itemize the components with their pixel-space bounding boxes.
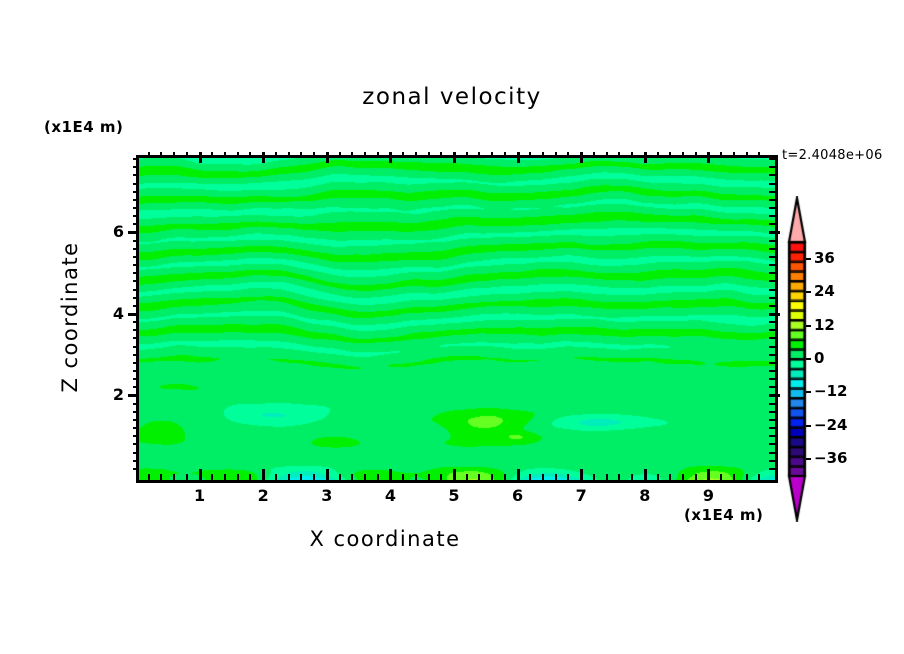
axis-tick bbox=[769, 297, 775, 299]
colorbar-tick-label: 0 bbox=[814, 349, 824, 367]
time-annotation: t=2.4048e+06 bbox=[782, 148, 883, 163]
axis-tick bbox=[133, 166, 139, 168]
axis-tick bbox=[377, 474, 379, 480]
axis-tick bbox=[128, 231, 139, 234]
axis-tick bbox=[133, 199, 139, 201]
axis-tick bbox=[491, 474, 493, 480]
colorbar-tick bbox=[806, 258, 811, 260]
axis-tick bbox=[133, 305, 139, 307]
colorbar-tick bbox=[806, 325, 811, 327]
axis-tick bbox=[720, 152, 722, 158]
axis-tick bbox=[199, 469, 202, 480]
axis-tick bbox=[769, 378, 775, 380]
x-tick-label: 3 bbox=[307, 486, 347, 505]
axis-tick bbox=[769, 215, 775, 217]
x-tick-label: 6 bbox=[498, 486, 538, 505]
x-tick-label: 9 bbox=[688, 486, 728, 505]
axis-tick bbox=[133, 362, 139, 364]
axis-tick bbox=[769, 305, 775, 307]
axis-tick bbox=[769, 199, 775, 201]
axis-tick bbox=[707, 152, 710, 163]
axis-tick bbox=[351, 152, 353, 158]
axis-tick bbox=[133, 378, 139, 380]
axis-tick bbox=[133, 419, 139, 421]
axis-tick bbox=[746, 152, 748, 158]
axis-tick bbox=[542, 474, 544, 480]
axis-tick bbox=[517, 152, 520, 163]
axis-tick bbox=[631, 474, 633, 480]
x-tick-label: 8 bbox=[625, 486, 665, 505]
axis-tick bbox=[769, 468, 775, 470]
axis-tick bbox=[133, 386, 139, 388]
axis-tick bbox=[133, 354, 139, 356]
axis-tick bbox=[769, 386, 775, 388]
axis-tick bbox=[769, 191, 775, 193]
axis-tick bbox=[758, 152, 760, 158]
axis-tick bbox=[275, 152, 277, 158]
axis-tick bbox=[402, 474, 404, 480]
contour-field bbox=[139, 158, 775, 480]
axis-tick bbox=[133, 443, 139, 445]
axis-tick bbox=[133, 215, 139, 217]
axis-tick bbox=[733, 474, 735, 480]
axis-tick bbox=[453, 152, 456, 163]
axis-tick bbox=[288, 474, 290, 480]
axis-tick bbox=[377, 152, 379, 158]
axis-tick bbox=[237, 152, 239, 158]
axis-tick bbox=[769, 329, 775, 331]
axis-tick bbox=[769, 370, 775, 372]
axis-tick bbox=[173, 152, 175, 158]
axis-tick bbox=[769, 346, 775, 348]
axis-tick bbox=[133, 370, 139, 372]
axis-tick bbox=[133, 158, 139, 160]
axis-tick bbox=[529, 152, 531, 158]
axis-tick bbox=[133, 207, 139, 209]
x-tick-label: 4 bbox=[370, 486, 410, 505]
axis-tick bbox=[148, 152, 150, 158]
axis-tick bbox=[695, 152, 697, 158]
axis-tick bbox=[133, 297, 139, 299]
x-tick-label: 2 bbox=[243, 486, 283, 505]
axis-tick bbox=[769, 256, 775, 258]
axis-tick bbox=[478, 474, 480, 480]
axis-tick bbox=[389, 152, 392, 163]
axis-tick bbox=[211, 474, 213, 480]
axis-tick bbox=[769, 337, 775, 339]
axis-tick bbox=[262, 469, 265, 480]
axis-tick bbox=[326, 152, 329, 163]
y-tick-label: 2 bbox=[90, 385, 124, 404]
axis-tick bbox=[769, 452, 775, 454]
axis-tick bbox=[128, 313, 139, 316]
axis-tick bbox=[160, 474, 162, 480]
axis-tick bbox=[351, 474, 353, 480]
axis-tick bbox=[504, 152, 506, 158]
y-axis-unit-label: (x1E4 m) bbox=[44, 118, 123, 136]
axis-tick bbox=[402, 152, 404, 158]
axis-tick bbox=[669, 152, 671, 158]
axis-tick bbox=[606, 474, 608, 480]
axis-tick bbox=[133, 223, 139, 225]
axis-tick bbox=[695, 474, 697, 480]
axis-tick bbox=[173, 474, 175, 480]
axis-tick bbox=[160, 152, 162, 158]
x-axis-title: X coordinate bbox=[0, 527, 770, 551]
x-tick-label: 7 bbox=[561, 486, 601, 505]
axis-tick bbox=[593, 152, 595, 158]
axis-tick bbox=[133, 191, 139, 193]
colorbar-tick-label: 12 bbox=[814, 316, 835, 334]
axis-tick bbox=[644, 152, 647, 163]
colorbar-tick-label: 24 bbox=[814, 282, 835, 300]
axis-tick bbox=[746, 474, 748, 480]
axis-tick bbox=[133, 321, 139, 323]
axis-tick bbox=[275, 474, 277, 480]
axis-tick bbox=[606, 152, 608, 158]
axis-tick bbox=[133, 183, 139, 185]
contour-plot-area bbox=[136, 155, 778, 483]
axis-tick bbox=[199, 152, 202, 163]
axis-tick bbox=[133, 256, 139, 258]
axis-tick bbox=[769, 174, 775, 176]
axis-tick bbox=[555, 474, 557, 480]
axis-tick bbox=[593, 474, 595, 480]
axis-tick bbox=[440, 152, 442, 158]
axis-tick bbox=[466, 152, 468, 158]
colorbar-tick-label: −24 bbox=[814, 416, 847, 434]
axis-tick bbox=[769, 183, 775, 185]
axis-tick bbox=[428, 152, 430, 158]
axis-tick bbox=[758, 474, 760, 480]
axis-tick bbox=[364, 152, 366, 158]
axis-tick bbox=[288, 152, 290, 158]
axis-tick bbox=[769, 166, 775, 168]
axis-tick bbox=[237, 474, 239, 480]
axis-tick bbox=[133, 460, 139, 462]
axis-tick bbox=[769, 158, 775, 160]
colorbar-tick-label: −12 bbox=[814, 382, 847, 400]
axis-tick bbox=[133, 289, 139, 291]
axis-tick bbox=[133, 240, 139, 242]
colorbar-tick bbox=[806, 358, 811, 360]
axis-tick bbox=[631, 152, 633, 158]
axis-tick bbox=[133, 264, 139, 266]
axis-tick bbox=[769, 321, 775, 323]
axis-tick bbox=[769, 419, 775, 421]
axis-tick bbox=[682, 474, 684, 480]
axis-tick bbox=[133, 248, 139, 250]
axis-tick bbox=[769, 207, 775, 209]
axis-tick bbox=[644, 469, 647, 480]
axis-tick bbox=[389, 469, 392, 480]
figure-root: zonal velocity (x1E4 m) t=2.4048e+06 X c… bbox=[0, 0, 904, 654]
axis-tick bbox=[211, 152, 213, 158]
axis-tick bbox=[657, 152, 659, 158]
axis-tick bbox=[769, 240, 775, 242]
axis-tick bbox=[249, 152, 251, 158]
axis-tick bbox=[733, 152, 735, 158]
axis-tick bbox=[657, 474, 659, 480]
axis-tick bbox=[339, 152, 341, 158]
y-tick-label: 4 bbox=[90, 304, 124, 323]
axis-tick bbox=[504, 474, 506, 480]
axis-tick bbox=[133, 435, 139, 437]
y-tick-label: 6 bbox=[90, 222, 124, 241]
axis-tick bbox=[769, 460, 775, 462]
axis-tick bbox=[720, 474, 722, 480]
y-axis-title: Z coordinate bbox=[58, 187, 82, 447]
axis-tick bbox=[529, 474, 531, 480]
page-title: zonal velocity bbox=[0, 84, 904, 110]
axis-tick bbox=[133, 337, 139, 339]
axis-tick bbox=[339, 474, 341, 480]
axis-tick bbox=[567, 474, 569, 480]
axis-tick bbox=[415, 474, 417, 480]
colorbar-tick bbox=[806, 291, 811, 293]
axis-tick bbox=[224, 152, 226, 158]
axis-tick bbox=[580, 152, 583, 163]
axis-tick bbox=[669, 474, 671, 480]
axis-tick bbox=[769, 403, 775, 405]
axis-tick bbox=[769, 443, 775, 445]
axis-tick bbox=[491, 152, 493, 158]
colorbar-tick bbox=[806, 458, 811, 460]
axis-tick bbox=[618, 152, 620, 158]
axis-tick bbox=[769, 354, 775, 356]
axis-tick bbox=[148, 474, 150, 480]
colorbar-tick-label: 36 bbox=[814, 249, 835, 267]
axis-tick bbox=[555, 152, 557, 158]
axis-tick bbox=[133, 411, 139, 413]
axis-tick bbox=[707, 469, 710, 480]
axis-tick bbox=[133, 329, 139, 331]
x-tick-label: 5 bbox=[434, 486, 474, 505]
axis-tick bbox=[133, 174, 139, 176]
axis-tick bbox=[466, 474, 468, 480]
axis-tick bbox=[517, 469, 520, 480]
axis-tick bbox=[133, 272, 139, 274]
axis-tick bbox=[769, 223, 775, 225]
axis-tick bbox=[769, 362, 775, 364]
axis-tick bbox=[428, 474, 430, 480]
axis-tick bbox=[186, 474, 188, 480]
axis-tick bbox=[224, 474, 226, 480]
axis-tick bbox=[453, 469, 456, 480]
axis-tick bbox=[415, 152, 417, 158]
axis-tick bbox=[133, 403, 139, 405]
axis-tick bbox=[769, 394, 780, 397]
axis-tick bbox=[313, 474, 315, 480]
axis-tick bbox=[769, 248, 775, 250]
axis-tick bbox=[567, 152, 569, 158]
colorbar-tick bbox=[806, 391, 811, 393]
axis-tick bbox=[133, 468, 139, 470]
axis-tick bbox=[682, 152, 684, 158]
axis-tick bbox=[133, 452, 139, 454]
colorbar-tick-label: −36 bbox=[814, 449, 847, 467]
axis-tick bbox=[133, 280, 139, 282]
x-tick-label: 1 bbox=[180, 486, 220, 505]
axis-tick bbox=[478, 152, 480, 158]
axis-tick bbox=[580, 469, 583, 480]
axis-tick bbox=[249, 474, 251, 480]
axis-tick bbox=[769, 435, 775, 437]
axis-tick bbox=[769, 427, 775, 429]
axis-tick bbox=[313, 152, 315, 158]
axis-tick bbox=[364, 474, 366, 480]
x-axis-unit-label: (x1E4 m) bbox=[684, 506, 763, 524]
axis-tick bbox=[769, 289, 775, 291]
axis-tick bbox=[133, 346, 139, 348]
axis-tick bbox=[769, 411, 775, 413]
axis-tick bbox=[128, 394, 139, 397]
axis-tick bbox=[262, 152, 265, 163]
axis-tick bbox=[769, 280, 775, 282]
axis-tick bbox=[769, 313, 780, 316]
axis-tick bbox=[186, 152, 188, 158]
axis-tick bbox=[618, 474, 620, 480]
axis-tick bbox=[542, 152, 544, 158]
colorbar-tick bbox=[806, 425, 811, 427]
axis-tick bbox=[300, 474, 302, 480]
axis-tick bbox=[133, 427, 139, 429]
axis-tick bbox=[300, 152, 302, 158]
axis-tick bbox=[769, 231, 780, 234]
axis-tick bbox=[440, 474, 442, 480]
axis-tick bbox=[326, 469, 329, 480]
axis-tick bbox=[769, 264, 775, 266]
axis-tick bbox=[769, 272, 775, 274]
